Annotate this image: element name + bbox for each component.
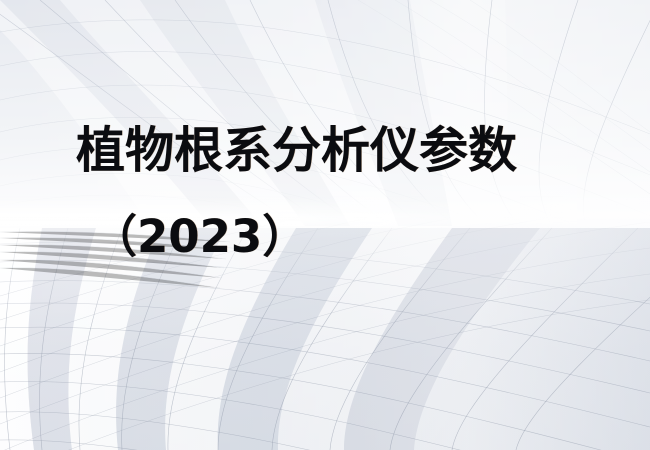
background-graphic — [0, 0, 650, 450]
title-slide: 植物根系分析仪参数 （2023） — [0, 0, 650, 450]
